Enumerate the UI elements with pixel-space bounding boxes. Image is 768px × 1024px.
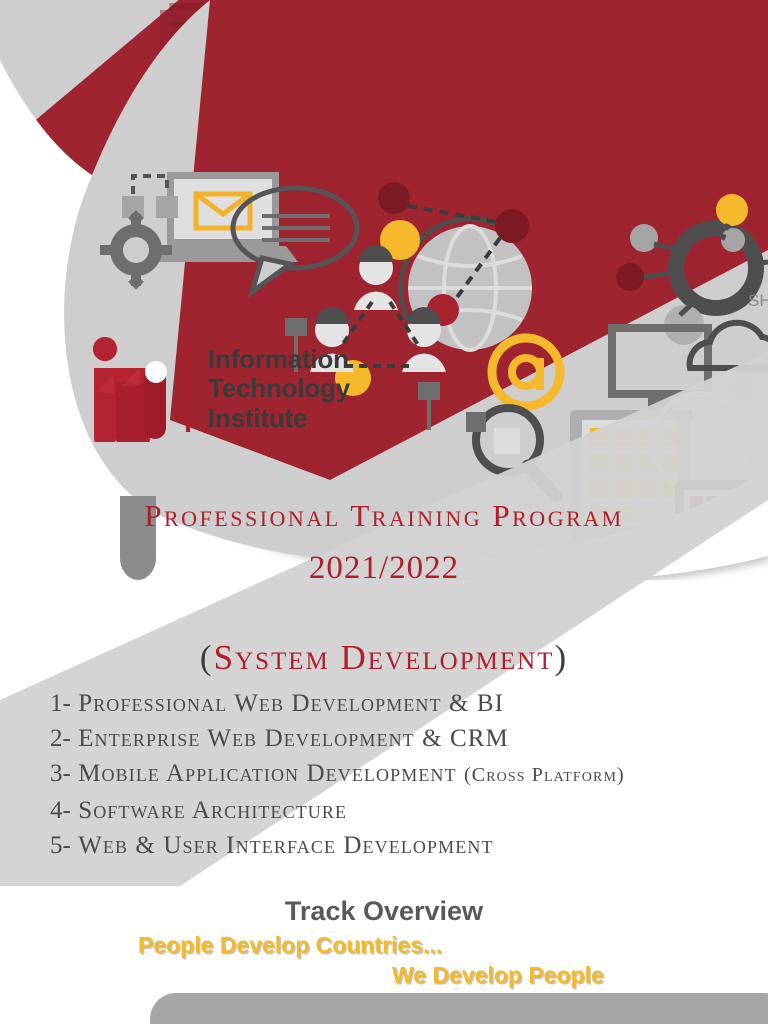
course-title: Mobile Application Development xyxy=(78,760,456,787)
program-heading-block: Professional Training Program 2021/2022 xyxy=(0,498,768,587)
course-list-item: 5- Web & User Interface Development xyxy=(50,828,766,863)
track-title: (System Development) xyxy=(0,638,768,678)
course-number: 4- xyxy=(50,797,71,824)
logo-line-1: Information xyxy=(208,345,350,374)
tagline-block: People Develop Countries... We Develop P… xyxy=(0,932,768,989)
course-suffix: (Cross Platform) xyxy=(464,764,625,786)
iti-logo: Information Technology Institute xyxy=(88,336,350,442)
course-list-item: 3- Mobile Application Development (Cross… xyxy=(50,756,766,793)
artwork-partial-label: SH xyxy=(748,291,768,310)
course-list-item: 1- Professional Web Development & BI xyxy=(50,686,766,721)
iti-logo-mark xyxy=(88,336,174,442)
program-year: 2021/2022 xyxy=(0,550,768,587)
program-title: Professional Training Program xyxy=(0,498,768,534)
course-number: 2- xyxy=(50,725,71,752)
course-list: 1- Professional Web Development & BI 2- … xyxy=(50,686,766,863)
track-close-paren: ) xyxy=(554,638,568,677)
bottom-gray-bar xyxy=(150,993,768,1024)
track-overview-label: Track Overview xyxy=(0,896,768,927)
course-title: Professional Web Development & BI xyxy=(78,690,504,717)
logo-line-3: Institute xyxy=(208,404,350,433)
cover-illustration: SH xyxy=(0,0,768,580)
logo-divider-rule xyxy=(186,346,190,432)
tagline-line-2: We Develop People xyxy=(0,962,768,989)
track-open-paren: ( xyxy=(200,638,214,677)
course-list-item: 2- Enterprise Web Development & CRM xyxy=(50,721,766,756)
logo-wordmark-text: Information Technology Institute xyxy=(208,345,350,432)
course-title: Web & User Interface Development xyxy=(78,832,493,859)
logo-line-2: Technology xyxy=(208,374,350,403)
tagline-line-1: People Develop Countries... xyxy=(0,932,768,959)
course-title: Enterprise Web Development & CRM xyxy=(78,725,509,752)
cover-page: SH Information Technology xyxy=(0,0,768,1024)
course-number: 5- xyxy=(50,832,71,859)
course-list-item: 4- Software Architecture xyxy=(50,793,766,828)
course-title: Software Architecture xyxy=(78,797,347,824)
course-number: 3- xyxy=(50,760,71,787)
course-number: 1- xyxy=(50,690,71,717)
square-icon xyxy=(466,412,486,432)
track-name: System Development xyxy=(214,638,555,677)
dot-icon-2 xyxy=(731,377,753,399)
